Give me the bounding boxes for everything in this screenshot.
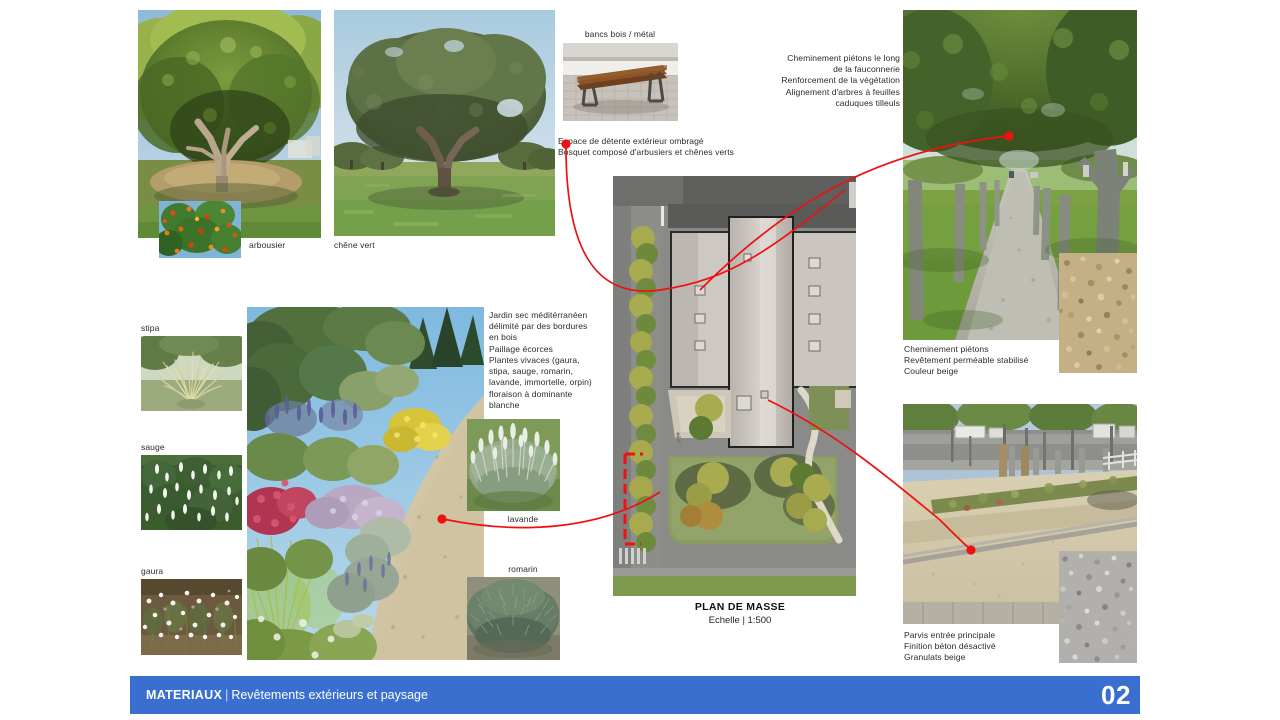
- annotation-parvis: Parvis entrée principale Finition béton …: [904, 630, 1084, 664]
- annotation-cheminement-fauconnerie: Cheminement piétons le long de la faucon…: [760, 53, 900, 109]
- photo-lavande: [467, 419, 560, 511]
- footer-separator: |: [222, 688, 231, 702]
- label-sauge: sauge: [141, 442, 211, 453]
- image-site-plan-aerial: [613, 176, 856, 596]
- annotation-bench: bancs bois / métal: [560, 29, 680, 40]
- photo-bench-wood-metal: [563, 43, 678, 121]
- annotation-cheminement-pietons: Cheminement piétons Revêtement perméable…: [904, 344, 1079, 378]
- photo-arbousier-berries: [159, 201, 241, 258]
- annotation-espace-detente: Espace de détente extérieur ombragé Bosq…: [558, 136, 758, 158]
- footer-subtitle: Revêtements extérieurs et paysage: [231, 688, 428, 702]
- label-gaura: gaura: [141, 566, 211, 577]
- plan-title-text: PLAN DE MASSE: [620, 601, 860, 613]
- photo-romarin: [467, 577, 560, 660]
- label-chene-vert: chêne vert: [334, 240, 414, 251]
- photo-chene-vert-tree: [334, 10, 555, 236]
- photo-gaura: [141, 579, 242, 655]
- label-romarin: romarin: [488, 564, 558, 575]
- label-stipa: stipa: [141, 323, 211, 334]
- label-arbousier: arbousier: [249, 240, 319, 251]
- photo-stipa: [141, 336, 242, 411]
- footer-title-bold: MATERIAUX: [146, 688, 222, 702]
- label-lavande: lavande: [488, 514, 558, 525]
- footer-title: MATERIAUX|Revêtements extérieurs et pays…: [130, 688, 428, 702]
- footer-bar: MATERIAUX|Revêtements extérieurs et pays…: [130, 676, 1140, 714]
- photo-mediterranean-dry-garden: [247, 307, 484, 660]
- presentation-board: arbousier: [0, 0, 1280, 720]
- photo-sauge: [141, 455, 242, 530]
- plan-scale-text: Echelle | 1:500: [620, 615, 860, 626]
- plan-title-block: PLAN DE MASSE Echelle | 1:500: [620, 601, 860, 626]
- annotation-jardin-sec: Jardin sec méditérranéen délimité par de…: [489, 310, 613, 411]
- page-number-badge: 02: [1092, 676, 1140, 714]
